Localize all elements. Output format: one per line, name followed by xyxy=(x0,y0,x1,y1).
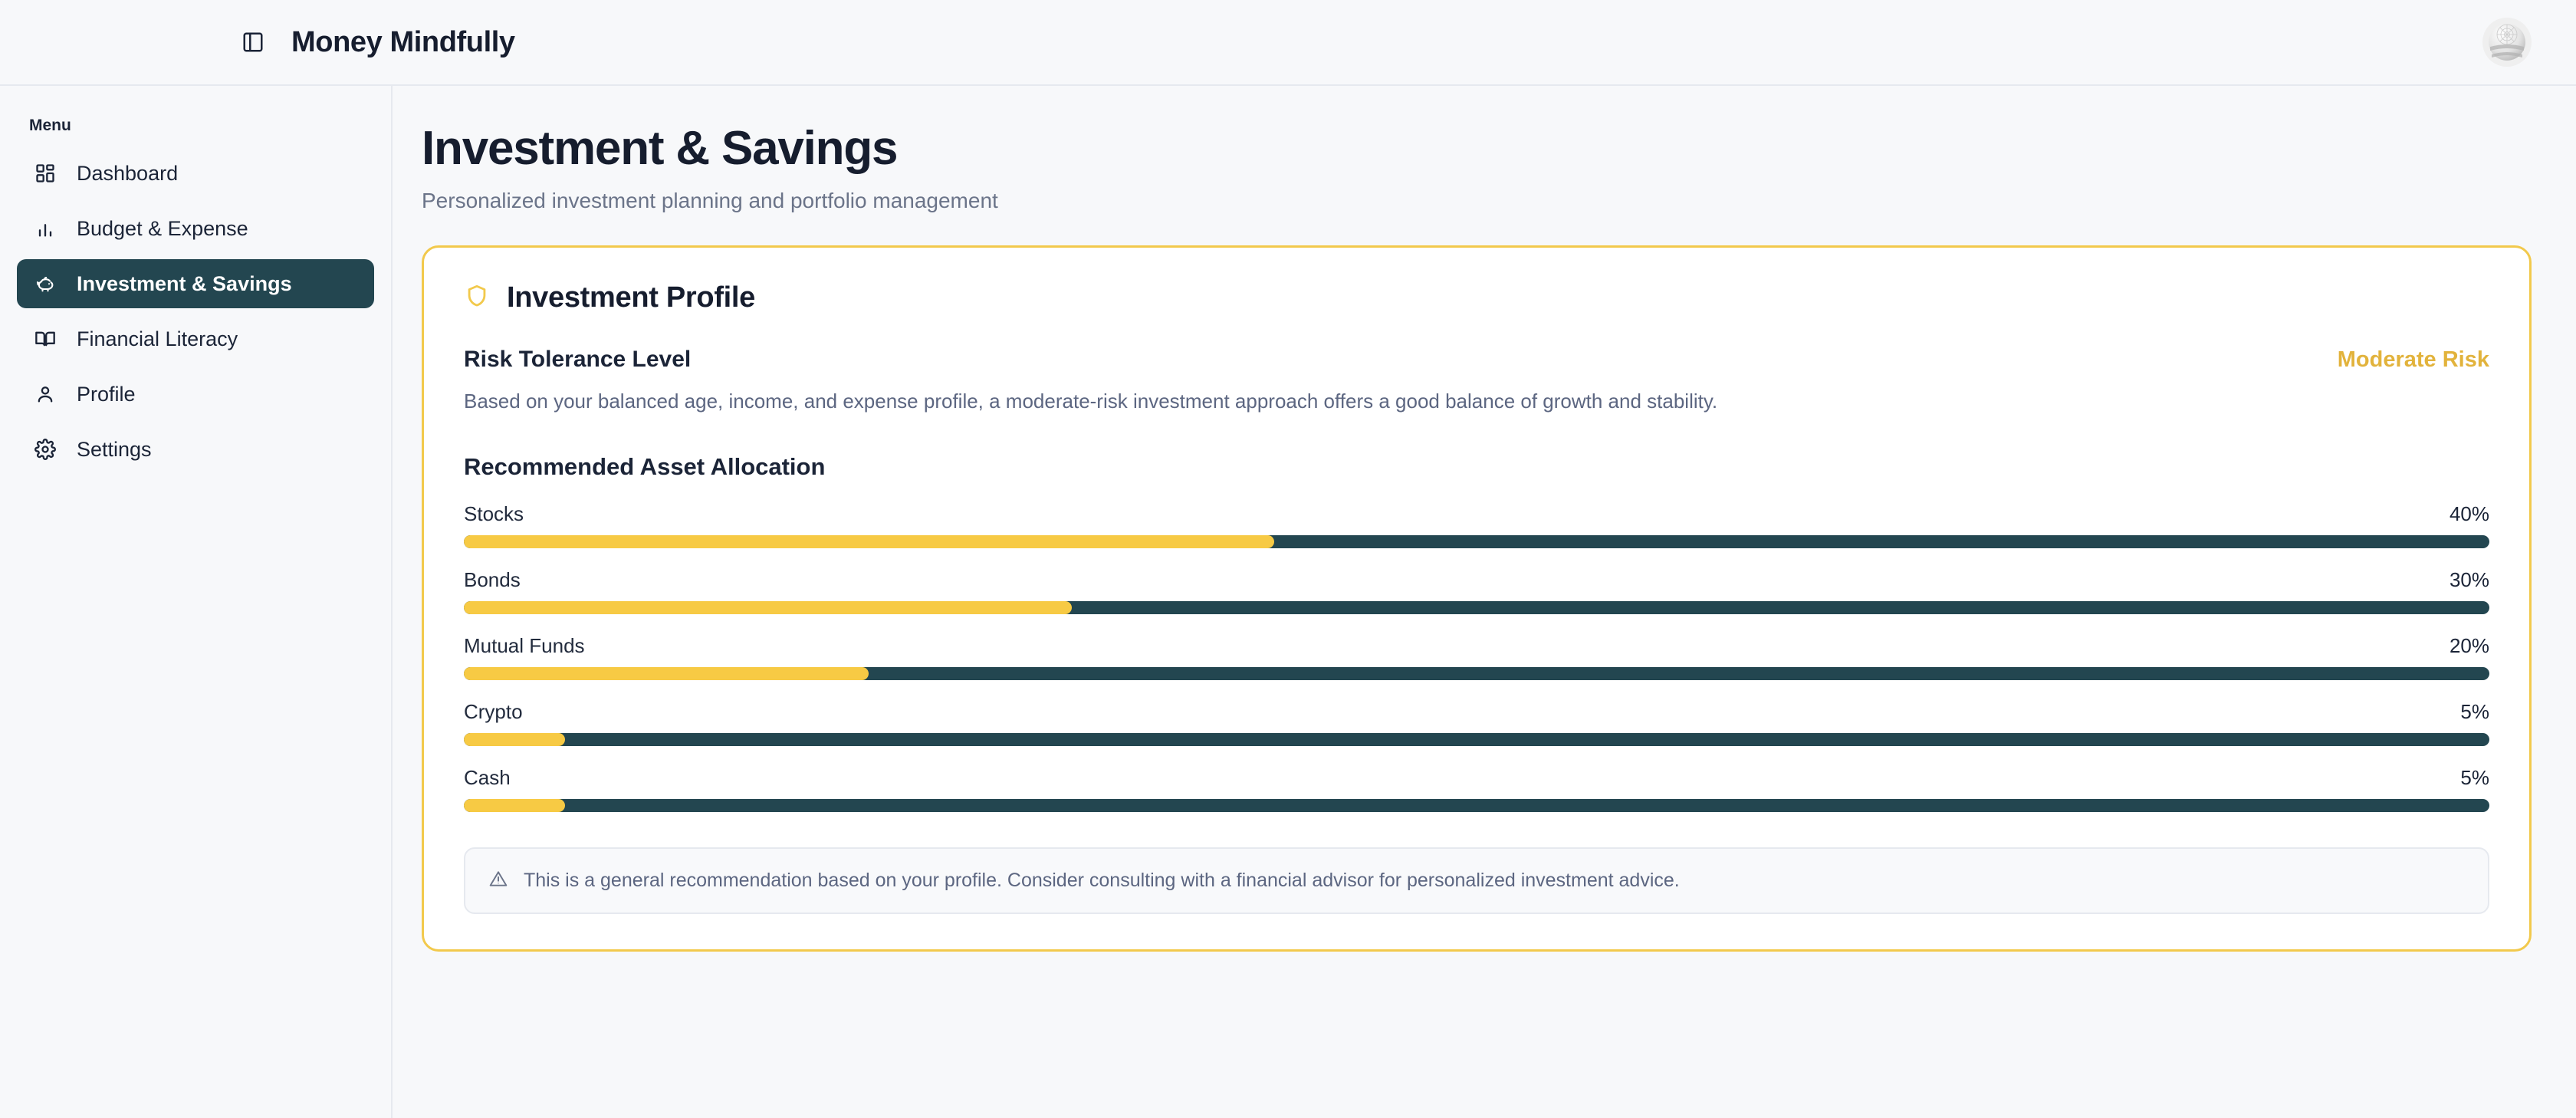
main-content: Investment & Savings Personalized invest… xyxy=(393,86,2576,1118)
sidebar-item-investment-savings[interactable]: Investment & Savings xyxy=(17,259,374,308)
disclaimer-note: This is a general recommendation based o… xyxy=(464,847,2489,914)
sidebar-item-label: Settings xyxy=(77,438,152,462)
allocation-row: Mutual Funds 20% xyxy=(464,634,2489,680)
piggy-bank-icon xyxy=(32,271,58,297)
sidebar-item-profile[interactable]: Profile xyxy=(17,370,374,419)
sidebar-item-dashboard[interactable]: Dashboard xyxy=(17,149,374,198)
top-bar: Money Mindfully xyxy=(0,0,2576,86)
page-title: Investment & Savings xyxy=(422,123,2532,175)
page-subtitle: Personalized investment planning and por… xyxy=(422,189,2532,213)
app-brand-title: Money Mindfully xyxy=(291,26,515,59)
sidebar-item-label: Financial Literacy xyxy=(77,327,238,351)
warning-triangle-icon xyxy=(488,869,508,893)
gear-icon xyxy=(32,436,58,462)
risk-description: Based on your balanced age, income, and … xyxy=(464,390,2489,413)
allocation-progress-fill xyxy=(464,601,1072,614)
sidebar-item-label: Profile xyxy=(77,383,136,406)
avatar[interactable] xyxy=(2482,18,2532,67)
sidebar-item-financial-literacy[interactable]: Financial Literacy xyxy=(17,314,374,363)
book-open-icon xyxy=(32,326,58,352)
allocation-progress-track xyxy=(464,799,2489,812)
sidebar-item-label: Budget & Expense xyxy=(77,217,248,241)
investment-profile-card: Investment Profile Risk Tolerance Level … xyxy=(422,245,2532,952)
allocation-name: Cash xyxy=(464,766,511,790)
sidebar-item-label: Investment & Savings xyxy=(77,272,292,296)
shield-icon xyxy=(464,283,490,313)
allocation-name: Bonds xyxy=(464,568,521,592)
allocation-progress-track xyxy=(464,733,2489,746)
app-shell: Menu Dashboard Budget & Expense xyxy=(0,86,2576,1118)
allocation-percent: 30% xyxy=(2449,568,2489,592)
allocation-name: Mutual Funds xyxy=(464,634,585,658)
card-header: Investment Profile xyxy=(464,281,2489,314)
card-title: Investment Profile xyxy=(507,281,755,314)
sidebar-item-budget-expense[interactable]: Budget & Expense xyxy=(17,204,374,253)
allocation-row: Crypto 5% xyxy=(464,700,2489,746)
allocation-percent: 40% xyxy=(2449,502,2489,526)
allocation-progress-fill xyxy=(464,535,1274,548)
sidebar-item-label: Dashboard xyxy=(77,162,178,186)
allocation-percent: 5% xyxy=(2460,700,2489,724)
allocation-row: Bonds 30% xyxy=(464,568,2489,614)
allocation-row: Cash 5% xyxy=(464,766,2489,812)
allocation-percent: 20% xyxy=(2449,634,2489,658)
allocation-progress-track xyxy=(464,667,2489,680)
grid-icon xyxy=(32,160,58,186)
user-icon xyxy=(32,381,58,407)
allocation-progress-track xyxy=(464,535,2489,548)
allocation-name: Stocks xyxy=(464,502,524,526)
allocation-percent: 5% xyxy=(2460,766,2489,790)
allocation-heading: Recommended Asset Allocation xyxy=(464,453,2489,481)
risk-level-badge: Moderate Risk xyxy=(2338,347,2489,373)
allocation-progress-fill xyxy=(464,799,565,812)
disclaimer-text: This is a general recommendation based o… xyxy=(524,870,1680,892)
top-bar-left: Money Mindfully xyxy=(0,26,515,59)
allocation-name: Crypto xyxy=(464,700,523,724)
allocation-list: Stocks 40% Bonds 30% xyxy=(464,502,2489,812)
allocation-row: Stocks 40% xyxy=(464,502,2489,548)
sidebar: Menu Dashboard Budget & Expense xyxy=(0,86,393,1118)
allocation-progress-fill xyxy=(464,667,869,680)
allocation-progress-track xyxy=(464,601,2489,614)
allocation-progress-fill xyxy=(464,733,565,746)
sidebar-section-label: Menu xyxy=(17,107,374,149)
panel-toggle-icon[interactable] xyxy=(238,27,268,58)
sidebar-item-settings[interactable]: Settings xyxy=(17,425,374,474)
risk-tolerance-heading: Risk Tolerance Level xyxy=(464,347,691,373)
risk-row: Risk Tolerance Level Moderate Risk xyxy=(464,347,2489,373)
bar-chart-icon xyxy=(32,215,58,242)
